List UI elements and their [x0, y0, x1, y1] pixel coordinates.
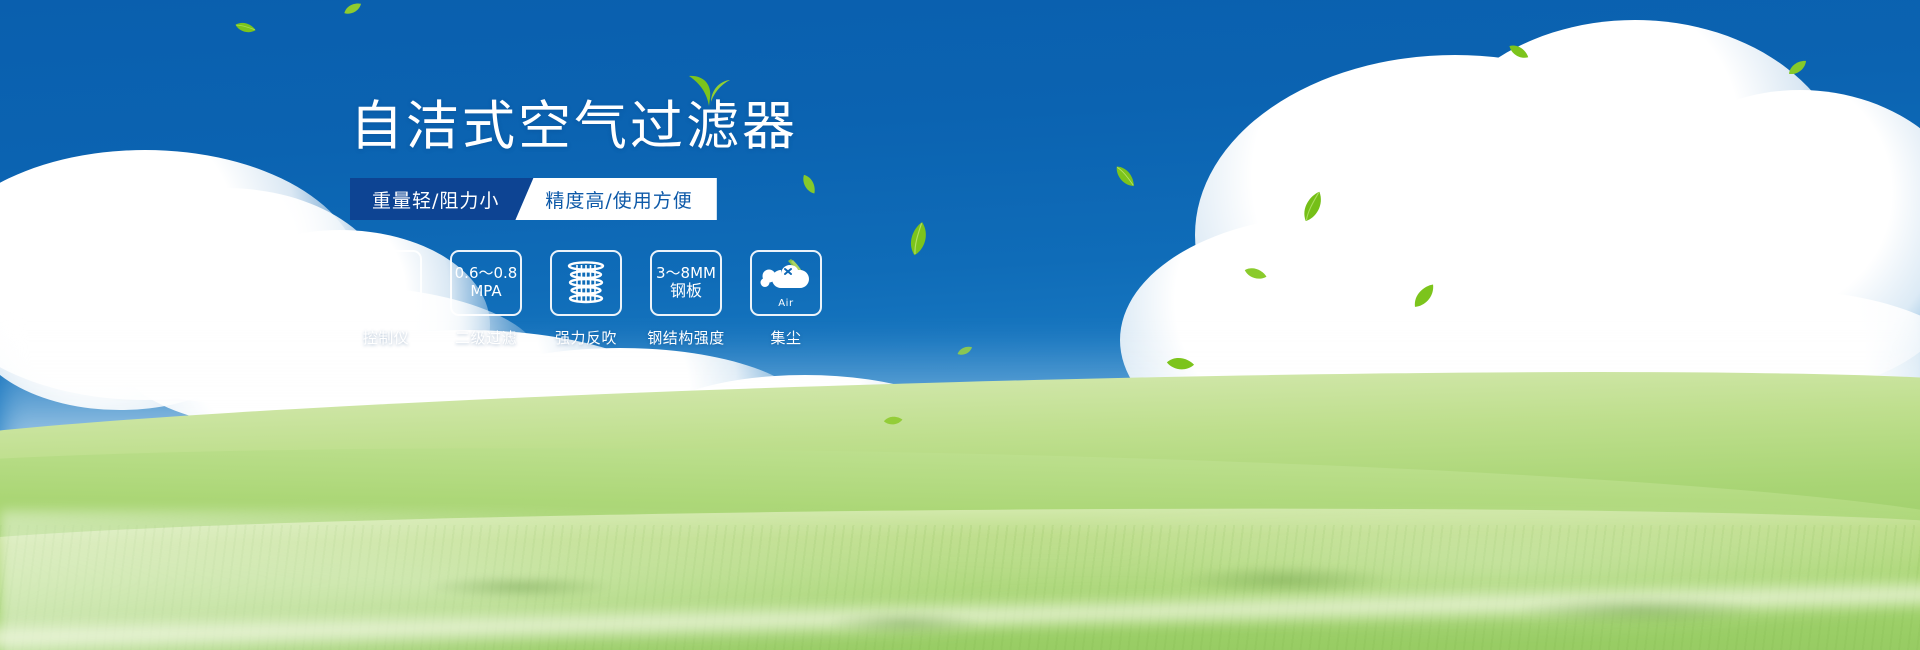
feature-label: 强力反吹 [555, 327, 617, 348]
svg-text:NO: NO [360, 279, 371, 287]
svg-text:OFF: OFF [394, 298, 407, 305]
filter-coil-icon [563, 259, 609, 307]
grass-shadow-patch [830, 610, 980, 636]
feature-icon-box: Air [750, 250, 822, 316]
banner-content: 自洁式空气过滤器 重量轻/阻力小 精度高/使用方便 [350, 100, 1070, 348]
feature-label: 钢结构强度 [647, 327, 725, 348]
tagline-badge-primary: 重量轻/阻力小 [350, 178, 533, 220]
feature-item-control-instrument: NO OFF 控制仪 [350, 250, 422, 348]
feature-icon-text-air: Air [752, 298, 820, 309]
air-cloud-icon [757, 258, 815, 298]
grass-shadow-patch [1180, 565, 1390, 595]
tagline-group: 重量轻/阻力小 精度高/使用方便 [350, 178, 1070, 220]
feature-label: 集尘 [770, 327, 801, 348]
feature-icon-box: 3～8MM 钢板 [650, 250, 722, 316]
grass-shadow-patch [430, 575, 610, 599]
feature-icon-text-line-1: 3～8MM [656, 265, 716, 283]
feature-icon-text-line-1: 0.6～0.8 [455, 265, 518, 283]
dial-gauge-icon: NO OFF [358, 258, 414, 308]
feature-icon-box [550, 250, 622, 316]
product-hero-banner: 自洁式空气过滤器 重量轻/阻力小 精度高/使用方便 [0, 0, 1920, 650]
page-title-wrapper: 自洁式空气过滤器 [350, 100, 798, 153]
feature-label: 控制仪 [363, 327, 410, 348]
grass-shadow-patch [1520, 595, 1760, 625]
title-leaf-icon [687, 72, 731, 110]
feature-icon-box: NO OFF [350, 250, 422, 316]
feature-item-strong-backblow: 强力反吹 [550, 250, 622, 348]
feature-icon-text-line-2: 钢板 [670, 282, 702, 301]
feature-item-secondary-filtration: 0.6～0.8 MPA 二级过滤 [450, 250, 522, 348]
feature-icon-row: NO OFF 控制仪 0.6～0.8 MPA 二级过滤 [350, 250, 1070, 348]
feature-item-steel-structure-strength: 3～8MM 钢板 钢结构强度 [650, 250, 722, 348]
feature-icon-box: 0.6～0.8 MPA [450, 250, 522, 316]
feature-label: 二级过滤 [455, 327, 517, 348]
feature-icon-text-line-2: MPA [470, 283, 501, 301]
grass-field-background [0, 360, 1920, 650]
tagline-badge-secondary: 精度高/使用方便 [515, 178, 716, 220]
feature-item-dust-collection: Air 集尘 [750, 250, 822, 348]
